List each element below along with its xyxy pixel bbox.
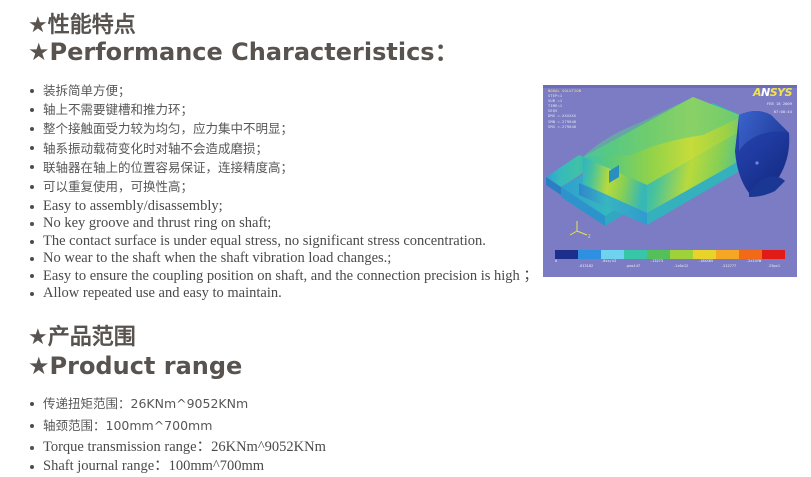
legend-label-bottom: .29px1 — [767, 264, 780, 268]
legend-swatch — [578, 250, 601, 259]
list-item: Shaft journal range：100mm^700mm — [30, 457, 326, 476]
bullet-dot-icon — [30, 274, 34, 278]
list-item: Torque transmission range：26KNm^9052KNm — [30, 438, 326, 457]
legend-swatch — [693, 250, 716, 259]
bullet-dot-icon — [30, 257, 34, 261]
legend-label-top: .2x14YW — [746, 259, 761, 263]
legend-label-bottom: .013182 — [578, 264, 593, 268]
ansys-fea-figure: NODAL SOLUTION STEP=1 SUB =1 TIME=1 SEQV… — [543, 85, 797, 277]
list-item: 轴上不需要键槽和推力环； — [30, 100, 293, 119]
list-item: 轴颈范围：100mm^700mm — [30, 415, 248, 437]
bullet-dot-icon — [30, 146, 34, 150]
legend-label-top: .18XX85 — [698, 259, 713, 263]
legend-label-top: .0xx/x3 — [601, 259, 616, 263]
list-item: Easy to ensure the coupling position on … — [30, 268, 538, 285]
legend-swatch — [601, 250, 624, 259]
list-item-label: Shaft journal range：100mm^700mm — [43, 458, 264, 474]
svg-text:Z: Z — [588, 234, 591, 239]
list-item-label: Easy to ensure the coupling position on … — [43, 268, 538, 284]
product-range-bullets-cn: 传递扭矩范围：26KNm^9052KNm 轴颈范围：100mm^700mm — [30, 393, 248, 437]
list-item: 轴系振动载荷变化时对轴不会造成磨损； — [30, 139, 293, 158]
list-item: 可以重复使用，可换性高； — [30, 177, 293, 196]
list-item: 传递扭矩范围：26KNm^9052KNm — [30, 393, 248, 415]
legend-swatch — [555, 250, 578, 259]
list-item-label: 联轴器在轴上的位置容易保证，连接精度高； — [43, 160, 293, 175]
product-range-heading-cn: ★产品范围 — [28, 325, 136, 351]
bullet-dot-icon — [30, 465, 34, 469]
product-range-heading-en: ★Product range — [28, 352, 242, 380]
legend-label-bottom: .212777 — [721, 264, 736, 268]
bullet-dot-icon — [30, 240, 34, 244]
performance-heading-en: ★Performance Characteristics： — [28, 38, 459, 66]
product-range-bullets-en: Torque transmission range：26KNm^9052KNm … — [30, 438, 326, 476]
bullet-dot-icon — [30, 165, 34, 169]
bullet-dot-icon — [30, 402, 34, 406]
bullet-dot-icon — [30, 222, 34, 226]
model-end-cap-marker — [755, 161, 758, 164]
list-item: 装拆简单方便； — [30, 81, 293, 100]
list-item-label: Torque transmission range：26KNm^9052KNm — [43, 439, 326, 455]
legend-label-top: 0 — [555, 259, 557, 263]
bullet-dot-icon — [30, 185, 34, 189]
list-item-label: No key groove and thrust ring on shaft; — [43, 215, 271, 231]
list-item: No wear to the shaft when the shaft vibr… — [30, 250, 538, 267]
bullet-dot-icon — [30, 205, 34, 209]
list-item: No key groove and thrust ring on shaft; — [30, 215, 538, 232]
fea-color-legend — [555, 250, 785, 259]
list-item-label: 轴颈范围：100mm^700mm — [43, 418, 212, 433]
fea-legend-labels: 0 .0xx/x3 .13273 .18XX85 .2x14YW .013182… — [553, 259, 789, 267]
legend-swatch — [647, 250, 670, 259]
legend-label-top: .13273 — [650, 259, 663, 263]
list-item-label: 轴系振动载荷变化时对轴不会造成磨损； — [43, 141, 268, 156]
list-item-label: The contact surface is under equal stres… — [43, 233, 486, 249]
list-item-label: No wear to the shaft when the shaft vibr… — [43, 250, 391, 266]
bullet-dot-icon — [30, 424, 34, 428]
legend-swatch — [670, 250, 693, 259]
list-item-label: 可以重复使用，可换性高； — [43, 179, 193, 194]
legend-label-bottom: .1x0x12 — [673, 264, 688, 268]
legend-swatch — [739, 250, 762, 259]
bullet-dot-icon — [30, 446, 34, 450]
legend-swatch — [716, 250, 739, 259]
fea-model-drawing: Z — [543, 85, 797, 277]
performance-heading-cn: ★性能特点 — [28, 13, 136, 39]
list-item: The contact surface is under equal stres… — [30, 233, 538, 250]
list-item: 整个接触面受力较为均匀，应力集中不明显； — [30, 119, 293, 138]
coordinate-triad-icon: Z — [570, 221, 591, 239]
list-item-label: 轴上不需要键槽和推力环； — [43, 102, 193, 117]
list-item-label: Easy to assembly/disassembly; — [43, 198, 223, 214]
performance-bullets-cn: 装拆简单方便； 轴上不需要键槽和推力环； 整个接触面受力较为均匀，应力集中不明显… — [30, 81, 293, 196]
performance-bullets-en: Easy to assembly/disassembly; No key gro… — [30, 198, 538, 302]
list-item-label: 装拆简单方便； — [43, 83, 131, 98]
bullet-dot-icon — [30, 292, 34, 296]
list-item: Easy to assembly/disassembly; — [30, 198, 538, 215]
legend-label-bottom: .pmx147 — [625, 264, 640, 268]
list-item: 联轴器在轴上的位置容易保证，连接精度高； — [30, 158, 293, 177]
legend-swatch — [624, 250, 647, 259]
list-item: Allow repeated use and easy to maintain. — [30, 285, 538, 302]
list-item-label: 传递扭矩范围：26KNm^9052KNm — [43, 396, 248, 411]
bullet-dot-icon — [30, 108, 34, 112]
list-item-label: 整个接触面受力较为均匀，应力集中不明显； — [43, 121, 293, 136]
list-item-label: Allow repeated use and easy to maintain. — [43, 285, 282, 301]
legend-swatch — [762, 250, 785, 259]
bullet-dot-icon — [30, 127, 34, 131]
bullet-dot-icon — [30, 89, 34, 93]
